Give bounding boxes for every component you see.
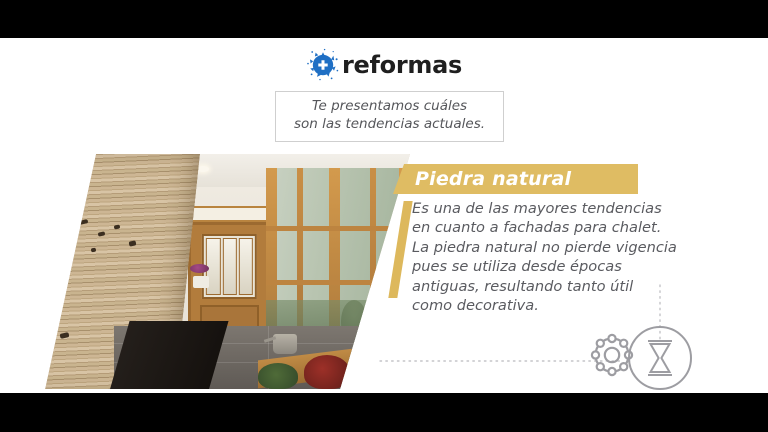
section-heading-banner: Piedra natural — [393, 164, 638, 194]
photo-flower-pot — [193, 276, 209, 288]
letterbox-top — [0, 0, 768, 38]
brand-wordmark: reformas — [342, 53, 462, 77]
body-line: antiguas, resultando tanto útil — [412, 277, 692, 296]
body-line: como decorativa. — [412, 296, 692, 315]
body-line: en cuanto a fachadas para chalet. — [412, 218, 692, 237]
section-heading-text: Piedra natural — [415, 168, 571, 190]
body-line: Es una de las mayores tendencias — [412, 199, 692, 218]
brand-logo: reformas — [0, 48, 768, 82]
slide-canvas: reformas Te presentamos cuáles son las t… — [0, 38, 768, 393]
entryway-stone-wall-photo — [30, 154, 410, 389]
video-slide-frame: reformas Te presentamos cuáles son las t… — [0, 0, 768, 432]
photo-green-plant — [258, 363, 298, 389]
letterbox-bottom — [0, 393, 768, 432]
photo-door-transom — [188, 206, 272, 222]
photo-basket-plant — [357, 359, 399, 389]
quote-accent-bar — [388, 201, 412, 298]
section-body-text: Es una de las mayores tendencias en cuan… — [412, 199, 692, 315]
tagline-box: Te presentamos cuáles son las tendencias… — [275, 91, 504, 142]
photo-artwork — [30, 154, 410, 389]
hourglass-icon — [629, 327, 691, 389]
body-line: La piedra natural no pierde vigencia — [412, 238, 692, 257]
photo-red-plant — [304, 355, 350, 389]
tagline-line-2: son las tendencias actuales. — [286, 116, 493, 134]
tagline-line-1: Te presentamos cuáles — [286, 98, 493, 116]
body-line: pues se utiliza desde épocas — [412, 257, 692, 276]
gear-icon — [592, 335, 632, 375]
photo-dark-floor-strip — [110, 321, 228, 389]
photo-door-glass — [202, 234, 256, 299]
photo-watering-can — [273, 334, 297, 354]
ink-splatter-plus-icon — [306, 48, 340, 82]
